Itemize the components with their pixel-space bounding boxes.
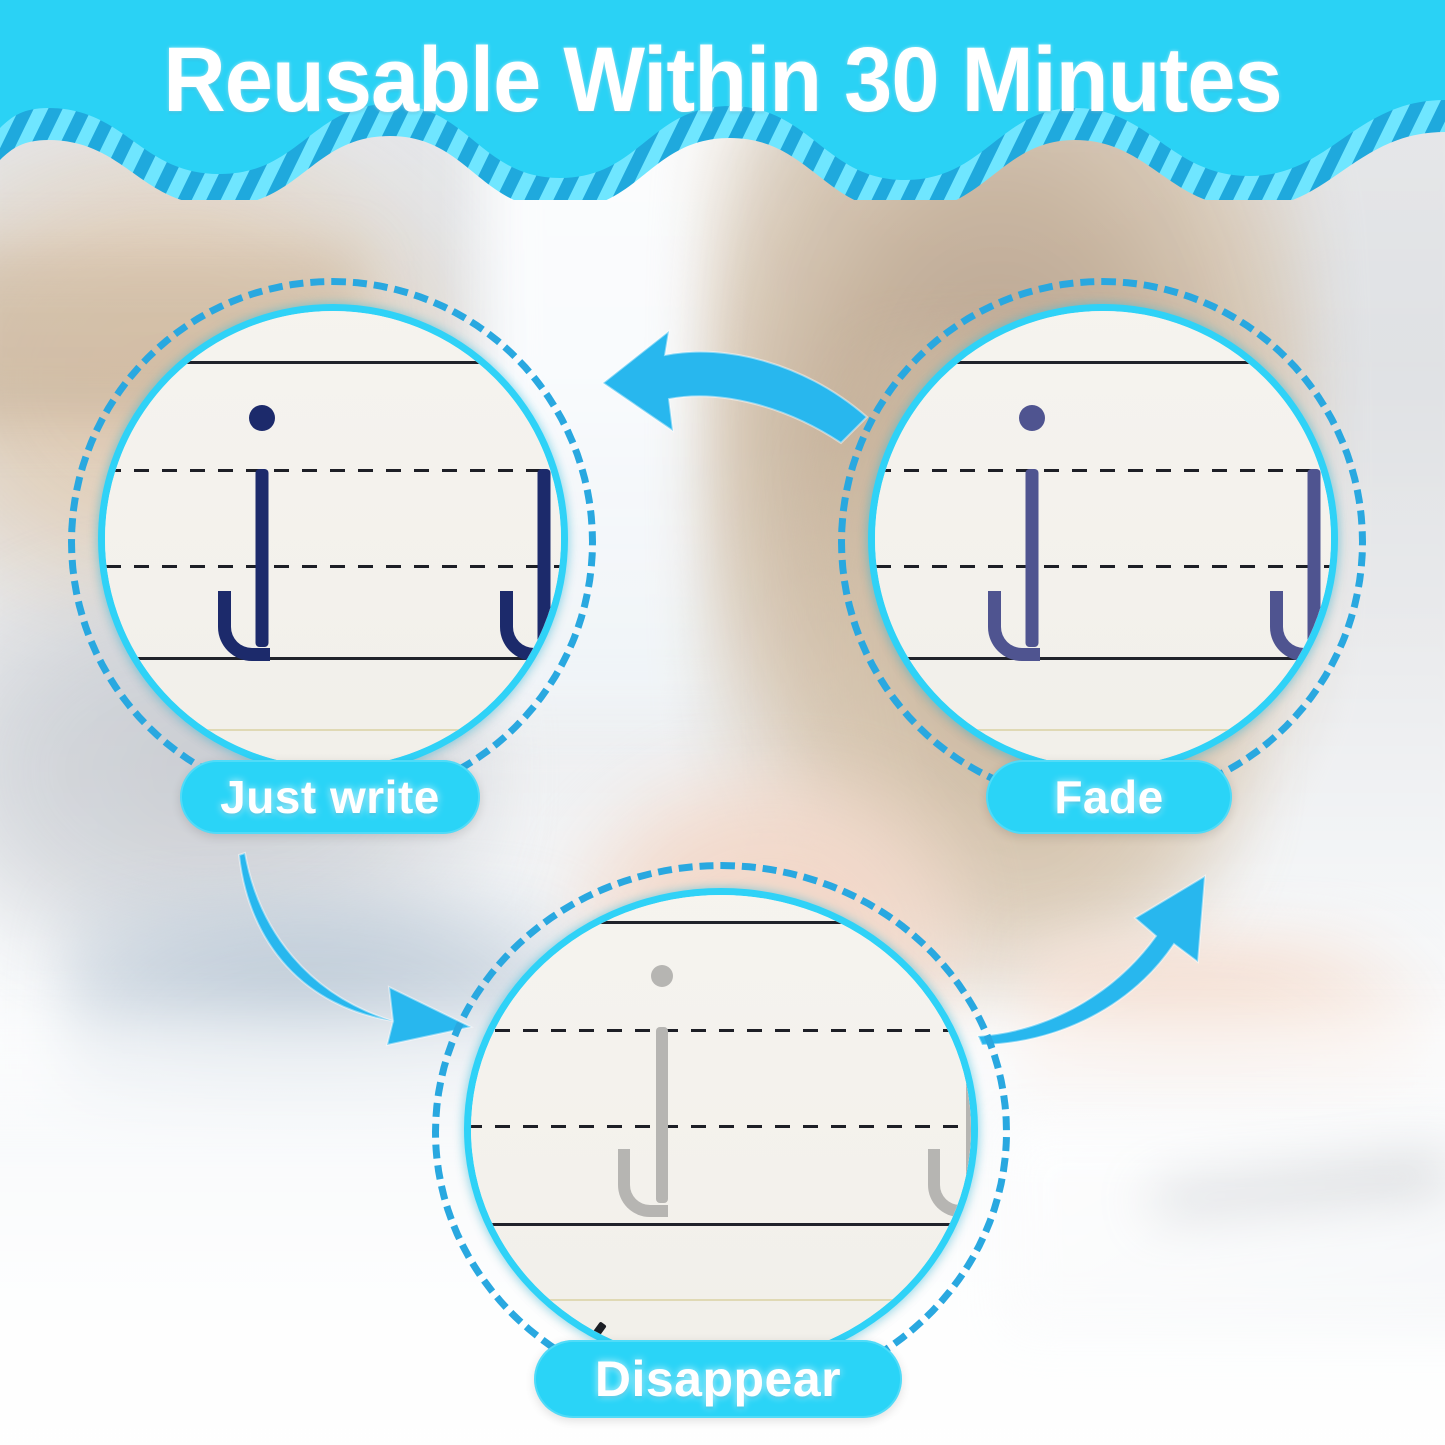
magnifier-disc-disappear: 1 2 1 (464, 888, 978, 1370)
stroke-number: 1 (142, 743, 151, 763)
worksheet-baseline-top (464, 921, 978, 924)
worksheet-just-write: oo (98, 304, 568, 774)
step-card-disappear[interactable]: 1 2 1 Disappear (432, 862, 1010, 1402)
magnifier-disc-just-write: oo (98, 304, 568, 774)
letter-glyph-j (602, 965, 722, 1233)
letter-glyph-j (484, 405, 568, 675)
letter-row-disappear (464, 965, 978, 1233)
stroke-number: 1 (513, 1311, 522, 1331)
worksheet-gold-line-bottom (464, 1299, 978, 1301)
worksheet-gold-line-bottom (868, 729, 1338, 731)
worksheet-disappear: 1 2 1 (464, 888, 978, 1370)
letter-glyph-j (912, 965, 978, 1233)
worksheet-fade: oo (868, 304, 1338, 774)
worksheet-gold-line-bottom (98, 729, 568, 731)
step-card-just-write[interactable]: oo (68, 278, 596, 806)
letter-glyph-j (202, 405, 322, 675)
header-banner: Reusable Within 30 Minutes (0, 0, 1445, 200)
stroke-number: 1 (912, 743, 921, 763)
magnifier-disc-fade: oo (868, 304, 1338, 774)
page-title: Reusable Within 30 Minutes (43, 34, 1401, 126)
worksheet-baseline-top (868, 361, 1338, 364)
letter-row-fade (868, 405, 1338, 675)
step-label-disappear[interactable]: Disappear (534, 1340, 902, 1418)
letter-glyph-j (972, 405, 1092, 675)
step-card-fade[interactable]: oo (838, 278, 1366, 806)
step-label-just-write[interactable]: Just write (180, 760, 480, 834)
product-infographic: Reusable Within 30 Minutes oo (0, 0, 1445, 1445)
letter-row-just-write (98, 405, 568, 675)
worksheet-baseline-top (98, 361, 568, 364)
letter-glyph-j (1254, 405, 1338, 675)
step-label-fade[interactable]: Fade (986, 760, 1232, 834)
